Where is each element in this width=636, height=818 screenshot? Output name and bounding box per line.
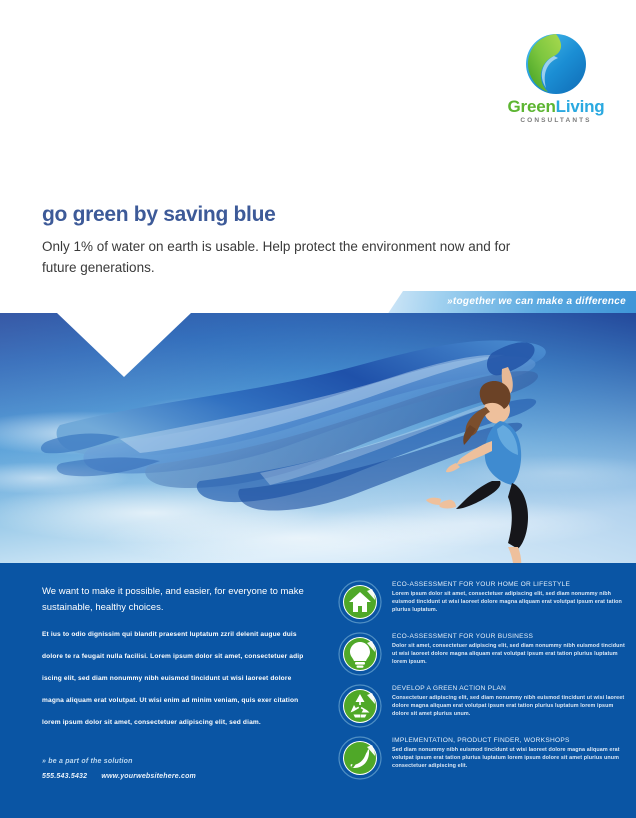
logo-wordmark: GreenLiving CONSULTANTS [496,98,616,125]
panel-body-copy: Et ius to odio dignissim qui blandit pra… [42,631,304,740]
feature-text: DEVELOP A GREEN ACTION PLAN Consectetuer… [392,685,628,719]
feature-description: Lorem ipsum dolor sit amet, consectetuer… [392,591,628,614]
leaf-globe-icon [524,32,588,96]
logo-subtitle: CONSULTANTS [496,118,616,125]
page-headline: go green by saving blue [42,203,275,227]
feature-text: ECO-ASSESSMENT FOR YOUR BUSINESS Dolor s… [392,633,628,667]
feature-item-implementation[interactable]: IMPLEMENTATION, PRODUCT FINDER, WORKSHOP… [338,734,628,786]
feature-item-action-plan[interactable]: DEVELOP A GREEN ACTION PLAN Consectetuer… [338,682,628,734]
feature-description: Sed diam nonummy nibh euismod tincidunt … [392,747,628,770]
recycle-icon [338,684,382,728]
lightbulb-icon [338,632,382,676]
call-to-action: » be a part of the solution 555.543.5432… [42,758,302,780]
website-link[interactable]: www.yourwebsitehere.com [101,773,196,780]
panel-paragraph: magna aliquam erat volutpat. Ut wisi eni… [42,697,304,706]
hero-image [0,313,636,563]
contact-line: 555.543.5432 www.yourwebsitehere.com [42,773,302,780]
tagline-text: »together we can make a difference [447,296,626,307]
cta-text: » be a part of the solution [42,758,302,765]
home-icon [338,580,382,624]
logo-word-green: Green [508,97,556,116]
panel-lead-text: We want to make it possible, and easier,… [42,584,312,615]
feature-text: IMPLEMENTATION, PRODUCT FINDER, WORKSHOP… [392,737,628,771]
page-subheadline: Only 1% of water on earth is usable. Hel… [42,237,512,279]
feature-title: ECO-ASSESSMENT FOR YOUR HOME OR LIFESTYL… [392,581,628,589]
feature-text: ECO-ASSESSMENT FOR YOUR HOME OR LIFESTYL… [392,581,628,615]
panel-paragraph: iscing elit, sed diam nonummy nibh euism… [42,675,304,684]
feature-list: ECO-ASSESSMENT FOR YOUR HOME OR LIFESTYL… [338,578,628,786]
feature-description: Consectetuer adipiscing elit, sed diam n… [392,695,628,718]
panel-paragraph: dolore te ra feugait nulla facilisi. Lor… [42,653,304,662]
tagline-banner: »together we can make a difference [387,291,636,315]
feature-item-home[interactable]: ECO-ASSESSMENT FOR YOUR HOME OR LIFESTYL… [338,578,628,630]
logo-word-living: Living [556,97,605,116]
leaf-icon [338,736,382,780]
brand-logo: GreenLiving CONSULTANTS [496,32,616,114]
panel-paragraph: lorem ipsum dolor sit amet, consectetuer… [42,719,304,728]
flyer-page: GreenLiving CONSULTANTS go green by savi… [0,0,636,818]
feature-description: Dolor sit amet, consectetuer adipiscing … [392,643,628,666]
feature-title: ECO-ASSESSMENT FOR YOUR BUSINESS [392,633,628,641]
phone-number[interactable]: 555.543.5432 [42,773,87,780]
feature-title: DEVELOP A GREEN ACTION PLAN [392,685,628,693]
feature-item-business[interactable]: ECO-ASSESSMENT FOR YOUR BUSINESS Dolor s… [338,630,628,682]
panel-paragraph: Et ius to odio dignissim qui blandit pra… [42,631,304,640]
feature-title: IMPLEMENTATION, PRODUCT FINDER, WORKSHOP… [392,737,628,745]
